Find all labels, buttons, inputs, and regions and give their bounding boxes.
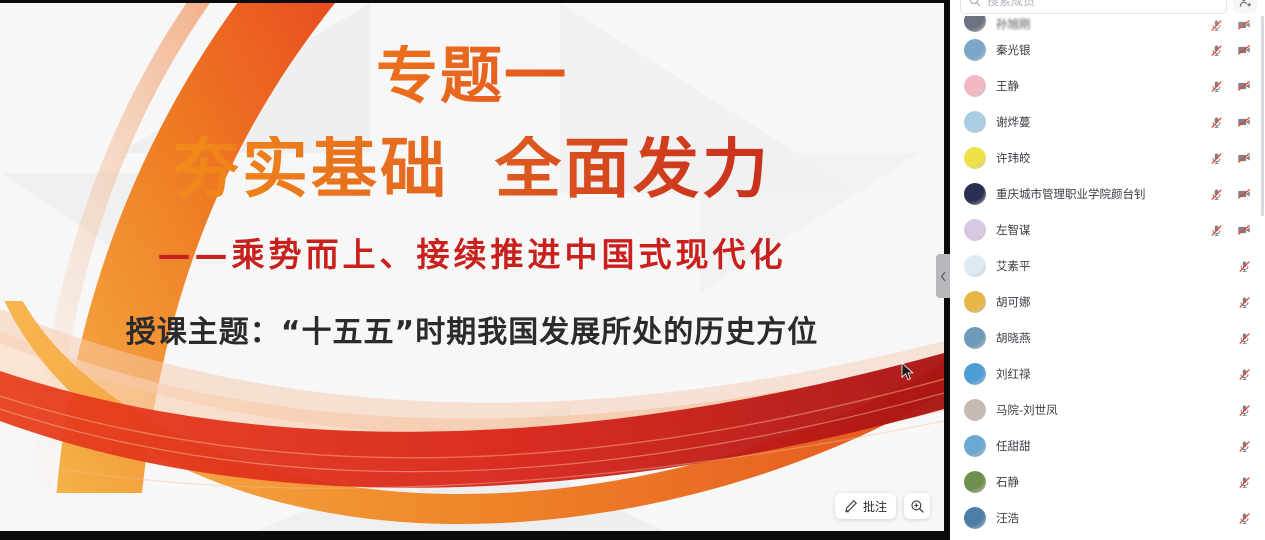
annotate-label: 批注 (863, 498, 887, 515)
member-status-icons (1210, 187, 1251, 201)
member-list[interactable]: 孙旭刚 秦光银 王静 谢烨蔓 许玮皎 重庆城市管理职业学院颜台钊 左智谋 艾素平 (950, 14, 1265, 540)
member-status-icons (1238, 296, 1251, 309)
camera-off-icon (1237, 223, 1251, 237)
zoom-in-button[interactable] (904, 493, 930, 519)
member-list-item[interactable]: 刘红禄 (950, 356, 1265, 392)
microphone-muted-icon (1210, 116, 1223, 129)
pencil-icon (844, 499, 858, 513)
camera-off-icon (1237, 187, 1251, 201)
member-name: 许玮皎 (996, 150, 1200, 166)
member-list-item[interactable]: 马院-刘世凤 (950, 392, 1265, 428)
member-list-item[interactable]: 任甜甜 (950, 428, 1265, 464)
search-box[interactable] (960, 0, 1227, 14)
member-name: 重庆城市管理职业学院颜台钊 (996, 186, 1200, 202)
member-list-item[interactable]: 左智谋 (950, 212, 1265, 248)
microphone-muted-icon (1238, 296, 1251, 309)
slide-subtitle: ——乘势而上、接续推进中国式现代化 (0, 238, 944, 271)
member-status-icons (1238, 368, 1251, 381)
member-status-icons (1238, 332, 1251, 345)
member-list-item[interactable]: 重庆城市管理职业学院颜台钊 (950, 176, 1265, 212)
member-list-item[interactable]: 秦光银 (950, 32, 1265, 68)
avatar (964, 399, 986, 421)
microphone-muted-icon (1210, 152, 1223, 165)
magnifier-plus-icon (910, 499, 925, 514)
member-status-icons (1210, 43, 1251, 57)
microphone-muted-icon (1210, 44, 1223, 57)
member-name: 任甜甜 (996, 438, 1228, 454)
presentation-slide: 专题一 夯实基础全面发力 ——乘势而上、接续推进中国式现代化 授课主题：“十五五… (0, 3, 944, 531)
member-list-item[interactable]: 许玮皎 (950, 140, 1265, 176)
participant-panel: 孙旭刚 秦光银 王静 谢烨蔓 许玮皎 重庆城市管理职业学院颜台钊 左智谋 艾素平 (950, 0, 1265, 540)
camera-off-icon (1237, 18, 1251, 32)
camera-off-icon (1237, 79, 1251, 93)
member-status-icons (1210, 18, 1251, 32)
microphone-muted-icon (1238, 440, 1251, 453)
slide-text-block: 专题一 夯实基础全面发力 ——乘势而上、接续推进中国式现代化 授课主题：“十五五… (0, 3, 944, 531)
avatar (964, 507, 986, 529)
member-name: 刘红禄 (996, 366, 1228, 382)
member-list-item[interactable]: 谢烨蔓 (950, 104, 1265, 140)
avatar (964, 363, 986, 385)
member-name: 谢烨蔓 (996, 114, 1200, 130)
slide-stage: 专题一 夯实基础全面发力 ——乘势而上、接续推进中国式现代化 授课主题：“十五五… (0, 0, 950, 540)
member-status-icons (1210, 79, 1251, 93)
camera-off-icon (1237, 151, 1251, 165)
camera-off-icon (1237, 115, 1251, 129)
avatar (964, 291, 986, 313)
avatar (964, 435, 986, 457)
member-name: 孙旭刚 (996, 16, 1200, 32)
member-status-icons (1238, 476, 1251, 489)
member-status-icons (1210, 115, 1251, 129)
meeting-window: 专题一 夯实基础全面发力 ——乘势而上、接续推进中国式现代化 授课主题：“十五五… (0, 0, 1265, 540)
microphone-muted-icon (1210, 224, 1223, 237)
member-status-icons (1210, 223, 1251, 237)
avatar (964, 327, 986, 349)
avatar (964, 147, 986, 169)
member-list-item[interactable]: 汪浩 (950, 500, 1265, 536)
member-name: 石静 (996, 474, 1228, 490)
microphone-muted-icon (1210, 80, 1223, 93)
member-name: 艾素平 (996, 258, 1228, 274)
member-status-icons (1238, 260, 1251, 273)
member-search-row (950, 0, 1265, 16)
microphone-muted-icon (1238, 512, 1251, 525)
slide-toolbar: 批注 (835, 493, 930, 519)
member-list-item[interactable]: 石静 (950, 464, 1265, 500)
member-status-icons (1238, 440, 1251, 453)
microphone-muted-icon (1210, 188, 1223, 201)
member-name: 胡可娜 (996, 294, 1228, 310)
search-input[interactable] (987, 0, 1218, 8)
microphone-muted-icon (1238, 368, 1251, 381)
member-name: 王静 (996, 78, 1200, 94)
microphone-muted-icon (1238, 404, 1251, 417)
member-status-icons (1238, 512, 1251, 525)
avatar (964, 219, 986, 241)
microphone-muted-icon (1210, 19, 1223, 32)
avatar (964, 111, 986, 133)
member-list-item[interactable]: 孙旭刚 (950, 14, 1265, 32)
camera-off-icon (1237, 43, 1251, 57)
slide-title-secondary-part-a: 夯实基础 (173, 130, 449, 207)
avatar (964, 183, 986, 205)
member-status-icons (1238, 404, 1251, 417)
member-status-icons (1210, 151, 1251, 165)
member-list-item[interactable]: 胡晓燕 (950, 320, 1265, 356)
avatar (964, 255, 986, 277)
slide-topic-line: 授课主题：“十五五”时期我国发展所处的历史方位 (0, 318, 944, 348)
member-list-item[interactable]: 胡可娜 (950, 284, 1265, 320)
avatar (964, 75, 986, 97)
member-name: 马院-刘世凤 (996, 402, 1228, 418)
avatar (964, 471, 986, 493)
avatar (964, 14, 986, 32)
member-name: 左智谋 (996, 222, 1200, 238)
member-name: 汪浩 (996, 510, 1228, 526)
search-icon (969, 0, 981, 7)
add-person-icon (1238, 0, 1253, 9)
add-member-button[interactable] (1233, 0, 1257, 13)
slide-title-secondary-part-b: 全面发力 (495, 130, 771, 207)
microphone-muted-icon (1238, 332, 1251, 345)
member-list-item[interactable]: 王静 (950, 68, 1265, 104)
chevron-left-icon (940, 271, 947, 282)
slide-title-secondary: 夯实基础全面发力 (0, 136, 944, 202)
slide-title-primary: 专题一 (0, 45, 944, 107)
microphone-muted-icon (1238, 260, 1251, 273)
annotate-button[interactable]: 批注 (835, 493, 896, 519)
microphone-muted-icon (1238, 476, 1251, 489)
panel-scrollbar[interactable] (1261, 16, 1264, 216)
member-list-item[interactable]: 艾素平 (950, 248, 1265, 284)
member-name: 秦光银 (996, 42, 1200, 58)
member-name: 胡晓燕 (996, 330, 1228, 346)
panel-collapse-handle[interactable] (936, 254, 950, 298)
avatar (964, 39, 986, 61)
